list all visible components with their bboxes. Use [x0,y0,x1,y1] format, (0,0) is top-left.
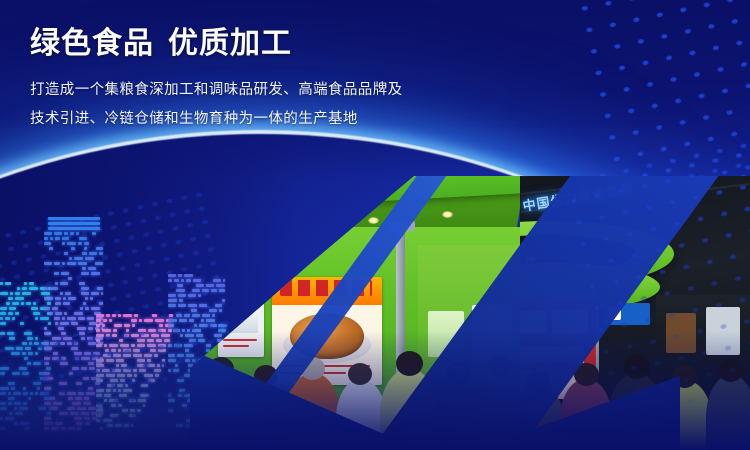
subtitle-line-2: 技术引进、冷链仓储和生物育种为一体的生产基地 [30,105,500,134]
promo-banner: CENTI 股票代码 603335 [0,0,750,450]
headline-part-1: 绿色食品 [30,27,154,60]
page-title: 绿色食品优质加工 [30,26,500,62]
background-bottom-shade [0,330,750,450]
banner-copy: 绿色食品优质加工 打造成一个集粮食深加工和调味品研发、高端食品品牌及 技术引进、… [30,26,500,134]
subtitle-line-1: 打造成一个集粮食深加工和调味品研发、高端食品品牌及 [30,76,500,105]
headline-part-2: 优质加工 [168,27,292,60]
banner-subtitle: 打造成一个集粮食深加工和调味品研发、高端食品品牌及 技术引进、冷链仓储和生物育种… [30,76,500,134]
